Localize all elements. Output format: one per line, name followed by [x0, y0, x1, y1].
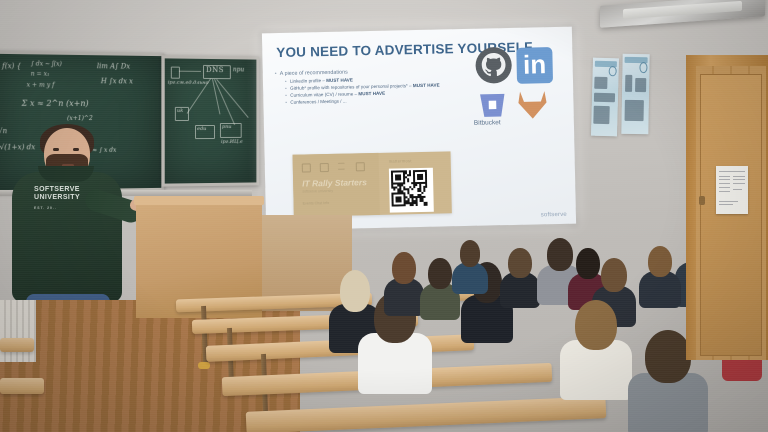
audience-member [500, 248, 540, 306]
screen-icon [302, 163, 311, 172]
poster-photo [594, 93, 615, 103]
list-icon [338, 163, 345, 170]
bullet-marker: • [285, 86, 290, 91]
diagram-node-edu [195, 125, 215, 139]
chalk-note: √n [0, 127, 7, 135]
audience-member-head [645, 330, 691, 383]
diagram-node-pnu [220, 123, 242, 138]
linkedin-logo: in [516, 47, 553, 84]
speaker-eye-right [73, 148, 79, 151]
gitlab-logo [515, 89, 550, 120]
bullet-marker: • [285, 93, 290, 98]
bitbucket-label: Bitbucket [474, 119, 501, 127]
chalk-note: x + m y f [27, 82, 55, 89]
trophy-icon [320, 163, 329, 172]
slide-logo-group: in Bitbucket [474, 45, 568, 133]
slide: YOU NEED TO ADVERTISE YOURSELF •A piece … [262, 27, 576, 231]
bench-left-edge [0, 338, 34, 352]
audience-member-head [575, 300, 617, 350]
bench-foot [198, 362, 210, 369]
audience-member [639, 246, 681, 306]
mattermost-label: mattermost [389, 158, 412, 164]
book-icon [356, 162, 365, 171]
diagram-caption: ірг.ИЦ.є [221, 139, 243, 145]
audience-member-head [648, 246, 672, 277]
must-have-tag: MUST HAVE [326, 78, 353, 84]
radiator [0, 300, 36, 362]
hoodie-line-2: UNIVERSITY [34, 194, 80, 201]
audience-member [560, 300, 632, 396]
audience-member-head [460, 240, 481, 267]
chalk-note: f(x) { [2, 62, 21, 70]
linkedin-label: in [516, 47, 553, 84]
lecture-hall-photo: f(x) { ∫ dx ~ ʃ(x) n = x₁ x + m y f lim … [0, 0, 768, 432]
promo-card-footer: Events Chat Info [303, 201, 330, 206]
poster-photo [594, 76, 607, 89]
bullet-marker: • [275, 71, 280, 77]
diagram-node-client [171, 67, 180, 79]
softserve-brand: softserve [541, 212, 567, 219]
slide-bullet-list: •A piece of recommendations •LinkedIn pr… [275, 67, 481, 108]
bench-left-edge-2 [0, 378, 44, 394]
door-panel [700, 74, 762, 356]
light-tube [623, 1, 742, 19]
diagram-domain-label: ірг.см.ед.дльно [168, 80, 209, 86]
chalk-note: ∫ dx ~ ʃ(x) [31, 60, 62, 67]
audience-member [452, 240, 488, 292]
speaker-hood [38, 166, 94, 182]
chalk-note: H ∫x dx x [101, 77, 133, 85]
must-have-tag: MUST HAVE [413, 83, 440, 89]
must-have-tag: MUST HAVE [358, 91, 385, 97]
speaker-eye-left [53, 148, 59, 151]
audience-member [384, 252, 424, 314]
poster-photo [624, 100, 643, 121]
chalk-note: (x+1)^2 [67, 115, 93, 122]
audience-member-head [392, 252, 415, 284]
poster-badge [639, 62, 647, 73]
blackboard-right-panel: DNS при ірг.см.ед.дльно uk edu pnu ірг.И… [162, 55, 260, 186]
diagram-arrow [179, 71, 201, 72]
poster-photo [625, 75, 633, 93]
slide-promo-card: IT Rally Starters softserve university E… [293, 151, 452, 216]
promo-card-title: IT Rally Starters [302, 177, 367, 188]
audience-member-head [428, 258, 451, 289]
projection-screen: YOU NEED TO ADVERTISE YOURSELF •A piece … [262, 27, 576, 231]
poster-badge [609, 66, 617, 77]
chalk-note: lim A∫ Dx [97, 62, 130, 70]
diagram-node-dns [203, 65, 231, 79]
poster-photo [593, 106, 609, 124]
wall-poster-right [621, 54, 649, 134]
bullet-marker: • [285, 100, 290, 105]
hoodie-line-1: SOFTSERVE [34, 186, 80, 193]
door-handle[interactable] [699, 196, 705, 205]
chalk-note: n = x₁ [31, 70, 50, 77]
promo-card-subtitle: softserve university [302, 189, 333, 194]
diagram-label-pri: при [233, 66, 244, 73]
chalk-note: Σ x ≈ 2^n (x+n) [22, 99, 89, 108]
door-notice [716, 166, 748, 214]
audience-member-head [508, 248, 531, 278]
diagram-link [216, 79, 248, 118]
promo-card-icon-row [302, 162, 372, 172]
bitbucket-logo [477, 90, 508, 121]
github-logo [474, 46, 513, 85]
wall-poster-left [591, 58, 619, 137]
qr-code [389, 168, 434, 213]
podium-top [134, 196, 264, 205]
diagram-link [187, 78, 211, 113]
bullet-marker: • [285, 79, 290, 84]
poster-photo [635, 78, 647, 93]
audience-member-head [601, 258, 627, 292]
